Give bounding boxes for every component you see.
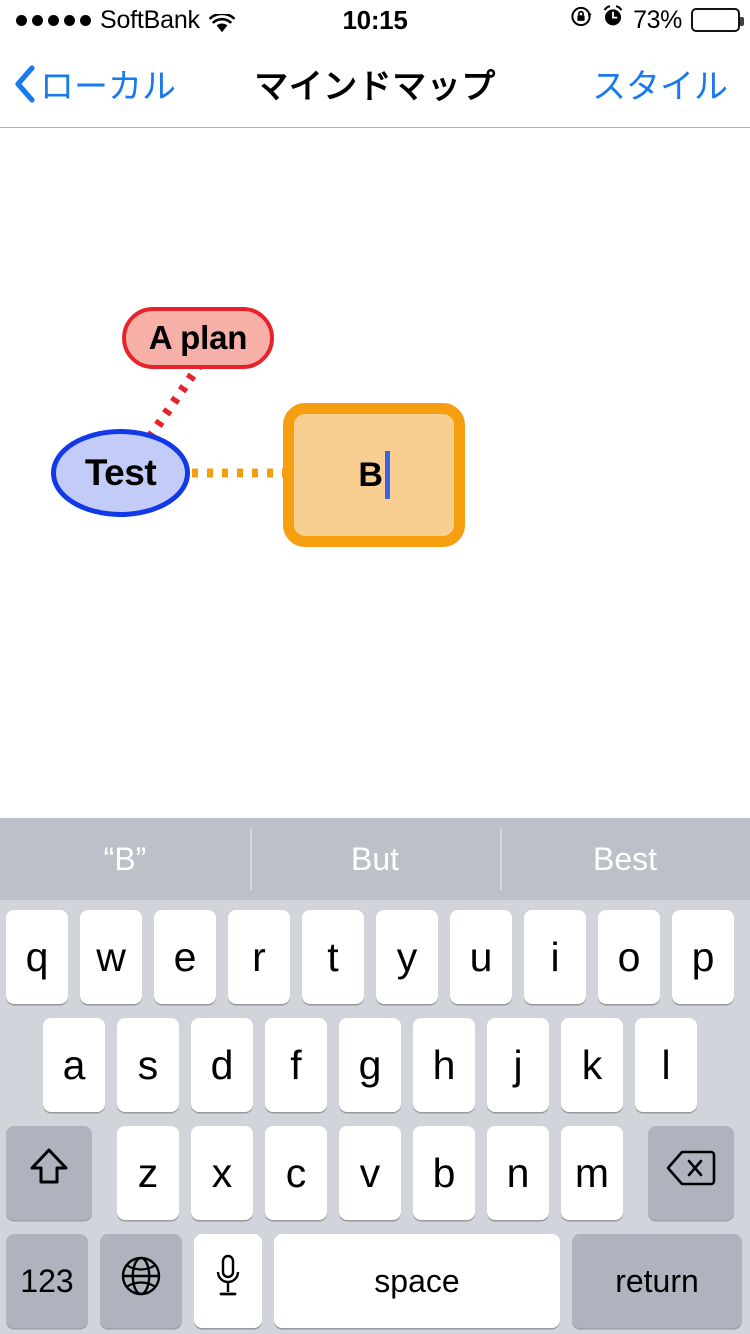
mindmap-node-b[interactable]: B	[283, 403, 465, 547]
suggestion-0[interactable]: “B”	[0, 818, 250, 900]
text-cursor	[385, 451, 390, 499]
mindmap-node-aplan[interactable]: A plan	[122, 307, 274, 369]
alarm-clock-icon	[602, 5, 624, 35]
connection-test-aplan	[150, 367, 198, 437]
key-d[interactable]: d	[191, 1018, 253, 1112]
key-f[interactable]: f	[265, 1018, 327, 1112]
navigation-bar: ローカル マインドマップ スタイル	[0, 40, 750, 128]
key-m[interactable]: m	[561, 1126, 623, 1220]
globe-key[interactable]	[100, 1234, 182, 1328]
rotation-lock-icon	[570, 5, 593, 35]
key-t[interactable]: t	[302, 910, 364, 1004]
key-v[interactable]: v	[339, 1126, 401, 1220]
key-g[interactable]: g	[339, 1018, 401, 1112]
keyboard-row-2: a s d f g h j k l	[0, 1018, 750, 1116]
mindmap-node-test[interactable]: Test	[51, 429, 190, 517]
key-u[interactable]: u	[450, 910, 512, 1004]
key-w[interactable]: w	[80, 910, 142, 1004]
key-s[interactable]: s	[117, 1018, 179, 1112]
return-key[interactable]: return	[572, 1234, 742, 1328]
mindmap-canvas[interactable]: A plan Test B	[0, 129, 750, 818]
keyboard-keys: q w e r t y u i o p a s d f g h j k l	[0, 900, 750, 1334]
key-p[interactable]: p	[672, 910, 734, 1004]
key-r[interactable]: r	[228, 910, 290, 1004]
key-h[interactable]: h	[413, 1018, 475, 1112]
keyboard-row-4: 123	[0, 1234, 750, 1332]
shift-key[interactable]	[6, 1126, 92, 1220]
key-o[interactable]: o	[598, 910, 660, 1004]
status-bar-right: 73%	[570, 0, 740, 40]
key-b[interactable]: b	[413, 1126, 475, 1220]
software-keyboard: “B” But Best q w e r t y u i o p a s d f	[0, 818, 750, 1334]
key-a[interactable]: a	[43, 1018, 105, 1112]
battery-percent-label: 73%	[633, 6, 682, 35]
key-y[interactable]: y	[376, 910, 438, 1004]
key-z[interactable]: z	[117, 1126, 179, 1220]
battery-icon	[691, 8, 740, 32]
dictation-key[interactable]	[194, 1234, 262, 1328]
mindmap-node-b-label: B	[358, 456, 382, 495]
microphone-icon	[213, 1253, 243, 1309]
status-bar: SoftBank 10:15	[0, 0, 750, 40]
key-e[interactable]: e	[154, 910, 216, 1004]
mindmap-node-test-label: Test	[85, 452, 156, 494]
numbers-key[interactable]: 123	[6, 1234, 88, 1328]
style-button[interactable]: スタイル	[592, 40, 728, 127]
autocorrect-suggestion-bar: “B” But Best	[0, 818, 750, 900]
key-c[interactable]: c	[265, 1126, 327, 1220]
suggestion-2[interactable]: Best	[500, 818, 750, 900]
mindmap-node-aplan-label: A plan	[149, 319, 247, 357]
phone-screen: SoftBank 10:15	[0, 0, 750, 1334]
keyboard-row-1: q w e r t y u i o p	[0, 910, 750, 1008]
mindmap-node-b-editor[interactable]: B	[358, 451, 389, 499]
key-n[interactable]: n	[487, 1126, 549, 1220]
shift-arrow-icon	[28, 1145, 70, 1201]
key-k[interactable]: k	[561, 1018, 623, 1112]
keyboard-row-3: z x c v b n m	[0, 1126, 750, 1224]
key-q[interactable]: q	[6, 910, 68, 1004]
delete-key[interactable]	[648, 1126, 734, 1220]
key-l[interactable]: l	[635, 1018, 697, 1112]
key-x[interactable]: x	[191, 1126, 253, 1220]
key-i[interactable]: i	[524, 910, 586, 1004]
suggestion-1[interactable]: But	[250, 818, 500, 900]
globe-icon	[120, 1255, 162, 1307]
backspace-delete-icon	[666, 1149, 716, 1197]
key-j[interactable]: j	[487, 1018, 549, 1112]
space-key[interactable]: space	[274, 1234, 560, 1328]
